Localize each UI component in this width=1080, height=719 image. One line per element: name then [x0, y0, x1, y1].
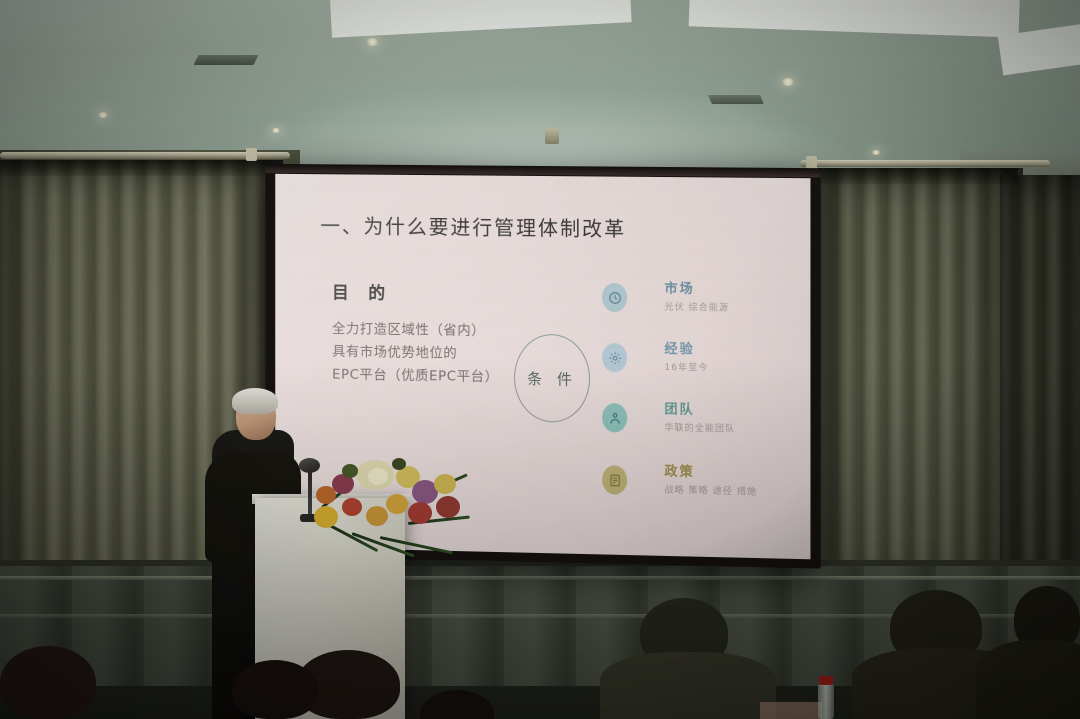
stage-curtain-right [818, 168, 1023, 598]
purpose-heading: 目 的 [332, 278, 392, 304]
ceiling-downlight-3 [98, 112, 108, 118]
feature-item-experience: 经验 16年至今 [602, 337, 804, 401]
feature-title-team: 团队 [664, 398, 694, 418]
purpose-body: 全力打造区域性（省内） 具有市场优势地位的 EPC平台（优质EPC平台） [332, 318, 540, 390]
feature-subtitle-experience: 16年至今 [664, 360, 708, 374]
ceiling-panel-center [328, 0, 631, 38]
condition-label: 条 件 [527, 367, 577, 389]
curtain-bracket-right [806, 156, 817, 169]
flower [316, 486, 336, 504]
audience-head [0, 646, 96, 719]
purpose-line-1: 全力打造区域性（省内） [332, 318, 540, 344]
document-icon [602, 465, 627, 495]
ceiling-downlight-4 [272, 128, 280, 133]
people-icon [602, 403, 627, 433]
flower [342, 498, 362, 516]
presenter-hair [232, 388, 278, 414]
floral-arrangement [312, 452, 472, 562]
flower [408, 502, 432, 524]
ceiling-downlight-1 [366, 38, 379, 46]
curtain-header-right [818, 168, 1018, 184]
audience-shoulders [600, 652, 776, 719]
flower [386, 494, 408, 514]
wall-rail-upper [0, 576, 1080, 580]
curtain-header-left [0, 160, 283, 176]
feature-subtitle-market: 光伏 综合能源 [664, 300, 729, 314]
feature-subtitle-team: 华联的全能团队 [664, 420, 735, 434]
curtain-rod-right [800, 160, 1050, 167]
ceiling-vent-right [708, 95, 764, 104]
ceiling-downlight-2 [782, 78, 794, 86]
flower [392, 458, 406, 470]
audience-shoulders [976, 640, 1080, 719]
audience-head [232, 660, 318, 719]
ceiling-panel-right [689, 0, 1022, 38]
feature-title-experience: 经验 [664, 338, 694, 358]
feature-item-policy: 政策 战略 策略 途径 措施 [602, 459, 804, 524]
slide-title: 一、为什么要进行管理体制改革 [320, 210, 626, 242]
gear-icon [602, 343, 627, 372]
purpose-line-3: EPC平台（优质EPC平台） [332, 364, 540, 390]
condition-circle: 条 件 [514, 334, 590, 423]
feature-subtitle-policy: 战略 策略 途径 措施 [664, 483, 757, 498]
feature-item-market: 市场 光伏 综合能源 [602, 277, 804, 340]
clock-icon [602, 283, 627, 312]
bottle-cap [819, 676, 833, 685]
purpose-line-2: 具有市场优势地位的 [332, 341, 540, 367]
feature-title-policy: 政策 [664, 460, 694, 480]
curtain-bracket-left [246, 148, 257, 161]
water-bottle [818, 684, 834, 719]
flower [314, 506, 338, 528]
flower [366, 506, 388, 526]
ceiling-vent-left [194, 55, 259, 65]
stage-curtain-far-right [1000, 175, 1080, 600]
conference-photo: 一、为什么要进行管理体制改革 目 的 全力打造区域性（省内） 具有市场优势地位的… [0, 0, 1080, 719]
flower [434, 474, 456, 494]
flower [342, 464, 358, 478]
flower [436, 496, 460, 518]
ceiling-speaker-box [545, 128, 559, 144]
feature-item-team: 团队 华联的全能团队 [602, 397, 804, 461]
ceiling-downlight-5 [872, 150, 880, 155]
feature-title-market: 市场 [664, 278, 694, 297]
flower [368, 468, 388, 485]
table-paper [760, 702, 822, 719]
